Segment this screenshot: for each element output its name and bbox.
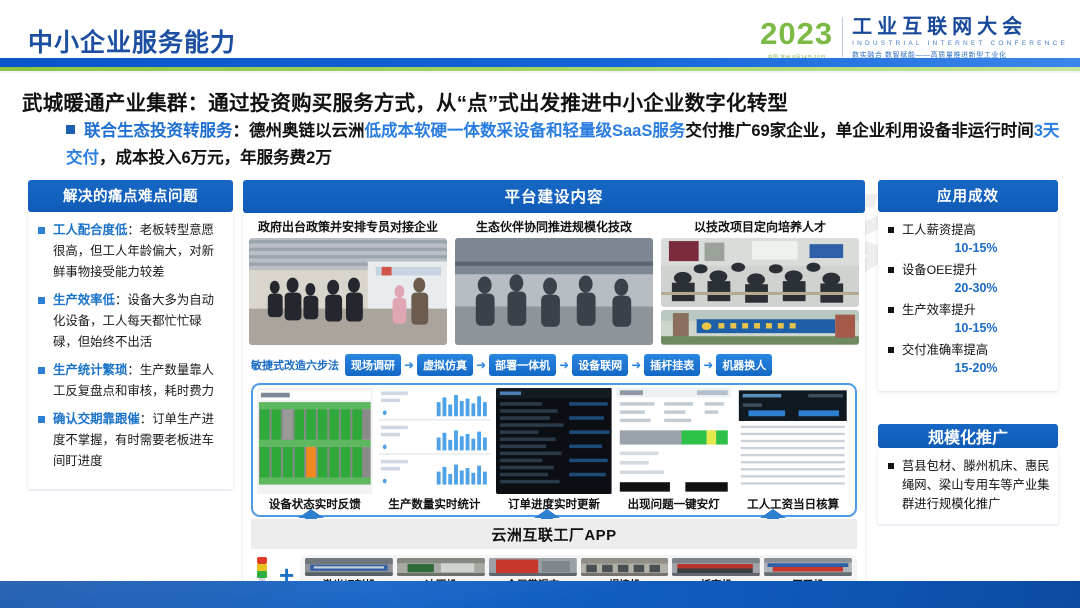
dashboard-andon-alert-image <box>616 388 732 494</box>
machine-photo-band-saw <box>489 558 577 576</box>
arrow-right-icon: ➜ <box>703 359 713 371</box>
square-bullet-icon <box>38 227 45 234</box>
dashboard-column: 生产数量实时统计 <box>377 388 493 512</box>
dashboard-column: 工人工资当日核算 <box>735 388 851 512</box>
scale-panel-body: 莒县包材、滕州机床、惠民绳网、梁山专用车等产业集群进行规模化推广 <box>878 448 1058 524</box>
dashboard-wage-settlement-image <box>735 388 851 494</box>
dashboard-column: 订单进度实时更新 <box>496 388 612 512</box>
dashboard-order-progress-image <box>496 388 612 494</box>
square-bullet-icon <box>888 267 894 273</box>
effect-value: 10-15% <box>902 319 1050 337</box>
photo-training-stack <box>661 238 859 345</box>
square-bullet-icon <box>888 307 894 313</box>
flow-step[interactable]: 机器换人 <box>716 354 772 376</box>
arrow-right-icon: ➜ <box>404 359 414 371</box>
photo-partner-workshop <box>455 238 653 345</box>
machine-photo-welder <box>581 558 669 576</box>
bullet-seg2-highlight: 低成本软硬一体数采设备和轻量级SaaS服务 <box>365 122 686 140</box>
flow-step[interactable]: 部署一体机 <box>489 354 556 376</box>
square-bullet-icon <box>38 367 45 374</box>
dashboard-wage-settlement <box>735 388 851 494</box>
list-item: 莒县包材、滕州机床、惠民绳网、梁山专用车等产业集群进行规模化推广 <box>886 457 1050 514</box>
machine-photo-laser-cutter <box>305 558 393 576</box>
square-bullet-icon <box>888 463 894 469</box>
list-item: 生产统计繁琐：生产数量靠人工反复盘点和审核，耗时费力 <box>34 360 224 402</box>
flow-step[interactable]: 设备联网 <box>572 354 628 376</box>
dashboard-row: 设备状态实时反馈 <box>251 383 857 517</box>
list-item: 生产效率低：设备大多为自动化设备，工人每天都忙忙碌碌，但始终不出活 <box>34 290 224 353</box>
list-item: 确认交期靠跟催：订单生产进度不掌握，有时需要老板进车间盯进度 <box>34 409 224 472</box>
bullet-lead: 联合生态投资转服务 <box>84 122 233 140</box>
platform-panel-body: 政府出台政策并安排专员对接企业 <box>243 213 865 599</box>
square-bullet-icon <box>888 227 894 233</box>
machine-photo-leveler <box>764 558 852 576</box>
flow-step[interactable]: 插杆挂表 <box>644 354 700 376</box>
bullet-seg1: 德州奥链以云洲 <box>249 122 365 140</box>
pain-points-title: 解决的痛点难点问题 <box>28 180 233 212</box>
effect-panel-body: 工人薪资提高 10-15% 设备OEE提升 20-30% 生产效率提升 10-1… <box>878 212 1058 391</box>
pain-item-key: 工人配合度低 <box>53 223 127 237</box>
slide-bullet: 联合生态投资转服务：德州奥链以云洲低成本软硬一体数采设备和轻量级SaaS服务交付… <box>66 118 1066 172</box>
effect-label: 设备OEE提升 <box>902 263 977 277</box>
logo-year-block: 2023 中国·苏州 8月14日-16日 <box>760 12 842 61</box>
flow-label: 敏捷式改造六步法 <box>251 357 339 373</box>
flow-step[interactable]: 现场调研 <box>345 354 401 376</box>
slide-root: 中小企业服务能力 2023 中国·苏州 8月14日-16日 工业互联网大会 IN… <box>0 0 1080 608</box>
arrow-right-icon: ➜ <box>631 359 641 371</box>
machine-photo-stamping-press <box>397 558 485 576</box>
effect-panel: 应用成效 工人薪资提高 10-15% 设备OEE提升 20-30% 生产效率提升… <box>878 180 1058 391</box>
pain-item-key: 确认交期靠跟催 <box>53 412 140 426</box>
arrow-right-icon: ➜ <box>559 359 569 371</box>
photo-caption: 以技改项目定向培养人才 <box>661 218 859 235</box>
logo-text-block: 工业互联网大会 INDUSTRIAL INTERNET CONFERENCE 数… <box>843 12 1068 60</box>
slide-title: 武城暖通产业集群：通过投资购买服务方式，从“点”式出发推进中小企业数字化转型 <box>22 86 1062 116</box>
dashboard-column: 设备状态实时反馈 <box>257 388 373 512</box>
photo-partner-workshop-image <box>455 238 653 345</box>
machine-photo-laser-cutter-image <box>305 558 393 576</box>
scale-panel-title: 规模化推广 <box>878 424 1058 448</box>
photo-school-gate <box>661 310 859 345</box>
arrow-right-icon: ➜ <box>476 359 486 371</box>
scale-text: 莒县包材、滕州机床、惠民绳网、梁山专用车等产业集群进行规模化推广 <box>902 457 1050 514</box>
dashboard-column: 出现问题一键安灯 <box>616 388 732 512</box>
list-item: 交付准确率提高 15-20% <box>886 341 1050 377</box>
dashboard-order-progress <box>496 388 612 494</box>
effect-value: 10-15% <box>902 239 1050 257</box>
dashboard-equipment-status <box>257 388 373 494</box>
bullet-seg5: ，成本投入6万元，年服务费2万 <box>99 149 332 167</box>
machine-photo-bending-machine <box>672 558 760 576</box>
logo-title-en: INDUSTRIAL INTERNET CONFERENCE <box>852 40 1068 47</box>
logo-title-cn: 工业互联网大会 <box>852 17 1068 38</box>
list-item: 设备OEE提升 20-30% <box>886 261 1050 297</box>
app-name-label: 云洲互联工厂APP <box>491 524 616 545</box>
list-item: 工人配合度低：老板转型意愿很高，但工人年龄偏大，对新鲜事物接受能力较差 <box>34 220 224 283</box>
list-item: 生产效率提升 10-15% <box>886 301 1050 337</box>
pain-item-key: 生产统计繁琐 <box>53 363 127 377</box>
app-name-bar: 云洲互联工厂APP <box>251 519 857 549</box>
dashboard-production-stats-image <box>377 388 493 494</box>
effect-label: 交付准确率提高 <box>902 343 988 357</box>
footer-band <box>0 581 1080 608</box>
photo-column: 政府出台政策并安排专员对接企业 <box>249 218 447 345</box>
photo-row: 政府出台政策并安排专员对接企业 <box>249 218 859 345</box>
platform-panel: 平台建设内容 政府出台政策并安排专员对接企业 <box>243 180 865 596</box>
effect-value: 15-20% <box>902 359 1050 377</box>
photo-caption: 生态伙伴协同推进规模化技改 <box>455 218 653 235</box>
effect-label: 工人薪资提高 <box>902 223 976 237</box>
dashboard-production-stats <box>377 388 493 494</box>
pain-points-panel: 解决的痛点难点问题 工人配合度低：老板转型意愿很高，但工人年龄偏大，对新鲜事物接… <box>28 180 233 489</box>
header-rule-blue <box>0 58 1080 67</box>
photo-government-meeting <box>249 238 447 345</box>
logo-year: 2023 <box>760 18 833 49</box>
flow-step[interactable]: 虚拟仿真 <box>417 354 473 376</box>
scale-panel: 规模化推广 莒县包材、滕州机床、惠民绳网、梁山专用车等产业集群进行规模化推广 <box>878 424 1058 524</box>
bullet-colon: ： <box>233 122 250 140</box>
square-bullet-icon <box>38 416 45 423</box>
effect-label: 生产效率提升 <box>902 303 976 317</box>
page-title: 中小企业服务能力 <box>28 23 236 59</box>
photo-classroom-image <box>661 238 859 307</box>
effect-panel-title: 应用成效 <box>878 180 1058 212</box>
process-flow: 敏捷式改造六步法 现场调研 ➜ 虚拟仿真 ➜ 部署一体机 ➜ 设备联网 ➜ 插杆… <box>251 353 857 377</box>
pain-points-body: 工人配合度低：老板转型意愿很高，但工人年龄偏大，对新鲜事物接受能力较差 生产效率… <box>28 212 233 489</box>
bullet-marker-icon <box>66 125 75 134</box>
photo-government-meeting-image <box>249 238 447 345</box>
machine-photo-welder-image <box>581 558 669 576</box>
square-bullet-icon <box>888 347 894 353</box>
photo-column: 生态伙伴协同推进规模化技改 <box>455 218 653 345</box>
header-rule-light <box>0 71 1080 73</box>
square-bullet-icon <box>38 297 45 304</box>
photo-classroom <box>661 238 859 307</box>
machine-photo-stamping-press-image <box>397 558 485 576</box>
photo-column: 以技改项目定向培养人才 <box>661 218 859 345</box>
conference-logo: 2023 中国·苏州 8月14日-16日 工业互联网大会 INDUSTRIAL … <box>760 12 1068 64</box>
machine-photo-band-saw-image <box>489 558 577 576</box>
machine-photo-leveler-image <box>764 558 852 576</box>
machine-photo-bending-machine-image <box>672 558 760 576</box>
photo-caption: 政府出台政策并安排专员对接企业 <box>249 218 447 235</box>
photo-school-gate-image <box>661 310 859 345</box>
pain-item-key: 生产效率低 <box>53 293 115 307</box>
effect-value: 20-30% <box>902 279 1050 297</box>
bullet-seg3: 交付推广69家企业，单企业利用设备非运行时间 <box>685 122 1033 140</box>
dashboard-andon-alert <box>616 388 732 494</box>
slide-header: 中小企业服务能力 2023 中国·苏州 8月14日-16日 工业互联网大会 IN… <box>0 0 1080 58</box>
dashboard-equipment-status-image <box>257 388 373 494</box>
list-item: 工人薪资提高 10-15% <box>886 221 1050 257</box>
platform-panel-title: 平台建设内容 <box>243 180 865 213</box>
